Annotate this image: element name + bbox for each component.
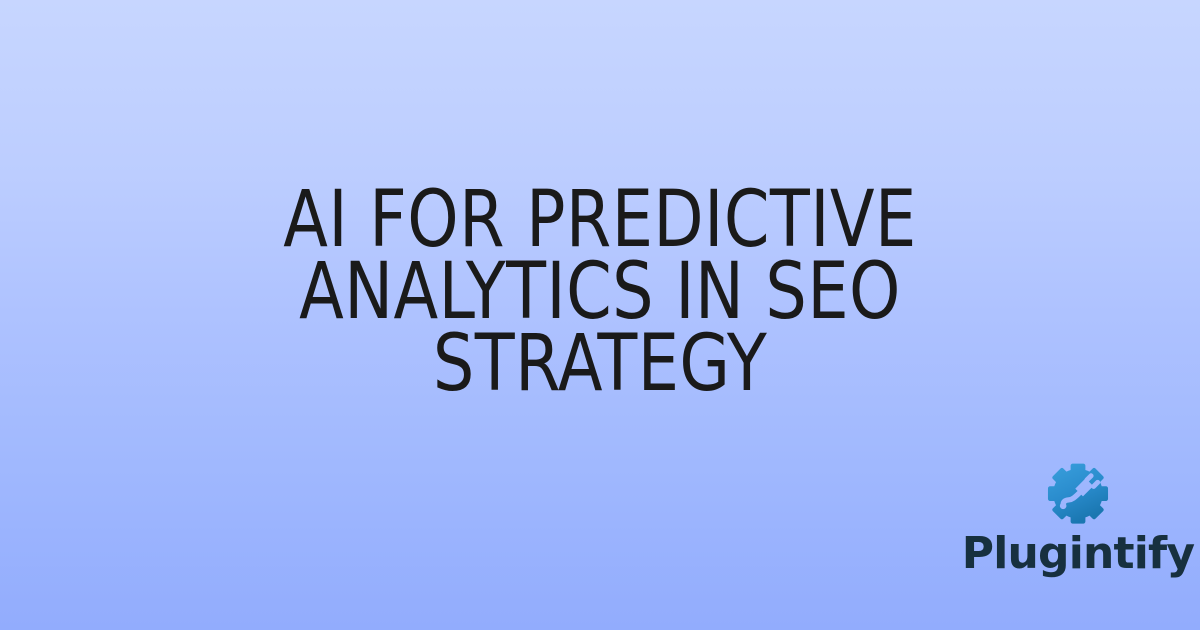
social-share-card: AI FOR PREDICTIVE ANALYTICS IN SEO STRAT… bbox=[0, 0, 1200, 630]
title-block: AI FOR PREDICTIVE ANALYTICS IN SEO STRAT… bbox=[0, 184, 1200, 400]
brand-logo-lockup: Plugintify bbox=[982, 458, 1174, 576]
brand-name: Plugintify bbox=[962, 532, 1195, 576]
page-title: AI FOR PREDICTIVE ANALYTICS IN SEO STRAT… bbox=[126, 184, 1075, 400]
gear-plug-icon bbox=[1045, 458, 1111, 524]
